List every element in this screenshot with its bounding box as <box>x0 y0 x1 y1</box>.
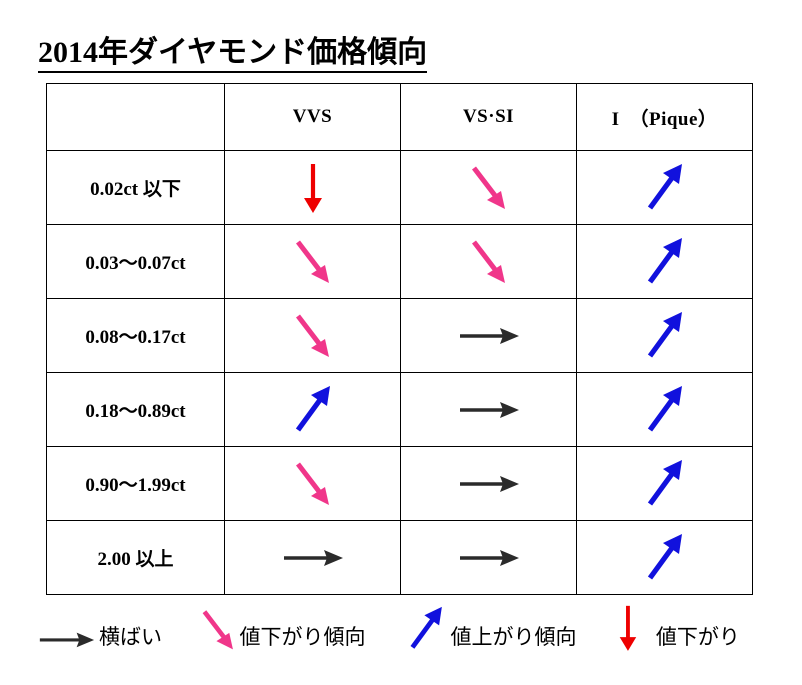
down-right-arrow-icon <box>467 238 511 286</box>
page-title: 2014年ダイヤモンド価格傾向 <box>38 36 427 73</box>
down-right-arrow-icon <box>291 238 335 286</box>
table-row: 0.18〜0.89ct <box>47 373 753 447</box>
down-right-arrow-icon <box>291 460 335 508</box>
legend: 横ばい 値下がり傾向 値上がり傾向 値下がり <box>38 600 788 660</box>
down-right-arrow-icon <box>198 608 238 652</box>
legend-item-down: 値下がり <box>616 600 740 652</box>
legend-item-up-trend: 値上がり傾向 <box>406 600 576 652</box>
cell-r0-c1 <box>401 151 577 225</box>
up-right-arrow-icon <box>643 163 687 213</box>
row-label-5: 2.00 以上 <box>47 521 225 595</box>
legend-item-flat: 横ばい <box>38 600 162 652</box>
up-right-arrow-icon <box>643 237 687 287</box>
legend-item-down-trend: 値下がり傾向 <box>198 600 365 652</box>
cell-r1-c0 <box>225 225 401 299</box>
price-trend-table: VVS VS·SI I （Pique） 0.02ct 以下 0.03〜0.07c… <box>46 83 753 595</box>
column-header-pique: I （Pique） <box>577 84 753 151</box>
row-label-4: 0.90〜1.99ct <box>47 447 225 521</box>
table-row: 0.08〜0.17ct <box>47 299 753 373</box>
cell-r2-c1 <box>401 299 577 373</box>
table-row: 2.00 以上 <box>47 521 753 595</box>
column-header-vvs: VVS <box>225 84 401 151</box>
legend-label-flat: 横ばい <box>95 627 162 652</box>
up-right-arrow-icon <box>643 311 687 361</box>
up-right-arrow-icon <box>643 459 687 509</box>
cell-r5-c1 <box>401 521 577 595</box>
page-title-text: 2014年ダイヤモンド価格傾向 <box>38 36 427 73</box>
cell-r5-c2 <box>577 521 753 595</box>
down-right-arrow-icon <box>198 608 238 652</box>
down-arrow-icon <box>616 604 640 652</box>
right-arrow-icon <box>458 397 520 423</box>
column-header-vssi: VS·SI <box>401 84 577 151</box>
row-label-3: 0.18〜0.89ct <box>47 373 225 447</box>
cell-r0-c2 <box>577 151 753 225</box>
table-corner-cell <box>47 84 225 151</box>
cell-r4-c1 <box>401 447 577 521</box>
table-row: 0.03〜0.07ct <box>47 225 753 299</box>
cell-r4-c0 <box>225 447 401 521</box>
up-right-arrow-icon <box>406 606 446 652</box>
up-right-arrow-icon <box>291 385 335 435</box>
row-label-0: 0.02ct 以下 <box>47 151 225 225</box>
down-arrow-icon <box>300 162 326 214</box>
up-right-arrow-icon <box>643 385 687 435</box>
down-right-arrow-icon <box>467 164 511 212</box>
right-arrow-icon <box>458 545 520 571</box>
cell-r3-c0 <box>225 373 401 447</box>
right-arrow-icon <box>38 628 95 652</box>
right-arrow-icon <box>458 323 520 349</box>
table-row: 0.02ct 以下 <box>47 151 753 225</box>
cell-r3-c2 <box>577 373 753 447</box>
right-arrow-icon <box>38 628 95 652</box>
cell-r3-c1 <box>401 373 577 447</box>
legend-label-down: 値下がり <box>640 627 740 652</box>
row-label-1: 0.03〜0.07ct <box>47 225 225 299</box>
cell-r5-c0 <box>225 521 401 595</box>
legend-label-up-trend: 値上がり傾向 <box>446 627 576 652</box>
table-row: 0.90〜1.99ct <box>47 447 753 521</box>
legend-label-down-trend: 値下がり傾向 <box>238 627 365 652</box>
down-arrow-icon <box>616 604 640 652</box>
up-right-arrow-icon <box>643 533 687 583</box>
cell-r2-c0 <box>225 299 401 373</box>
cell-r0-c0 <box>225 151 401 225</box>
up-right-arrow-icon <box>406 606 446 652</box>
cell-r1-c1 <box>401 225 577 299</box>
down-right-arrow-icon <box>291 312 335 360</box>
page-root: 2014年ダイヤモンド価格傾向 VVS VS·SI I （Pique） 0.02… <box>0 0 802 685</box>
cell-r1-c2 <box>577 225 753 299</box>
row-label-2: 0.08〜0.17ct <box>47 299 225 373</box>
cell-r4-c2 <box>577 447 753 521</box>
cell-r2-c2 <box>577 299 753 373</box>
right-arrow-icon <box>458 471 520 497</box>
table-header-row: VVS VS·SI I （Pique） <box>47 84 753 151</box>
right-arrow-icon <box>282 545 344 571</box>
